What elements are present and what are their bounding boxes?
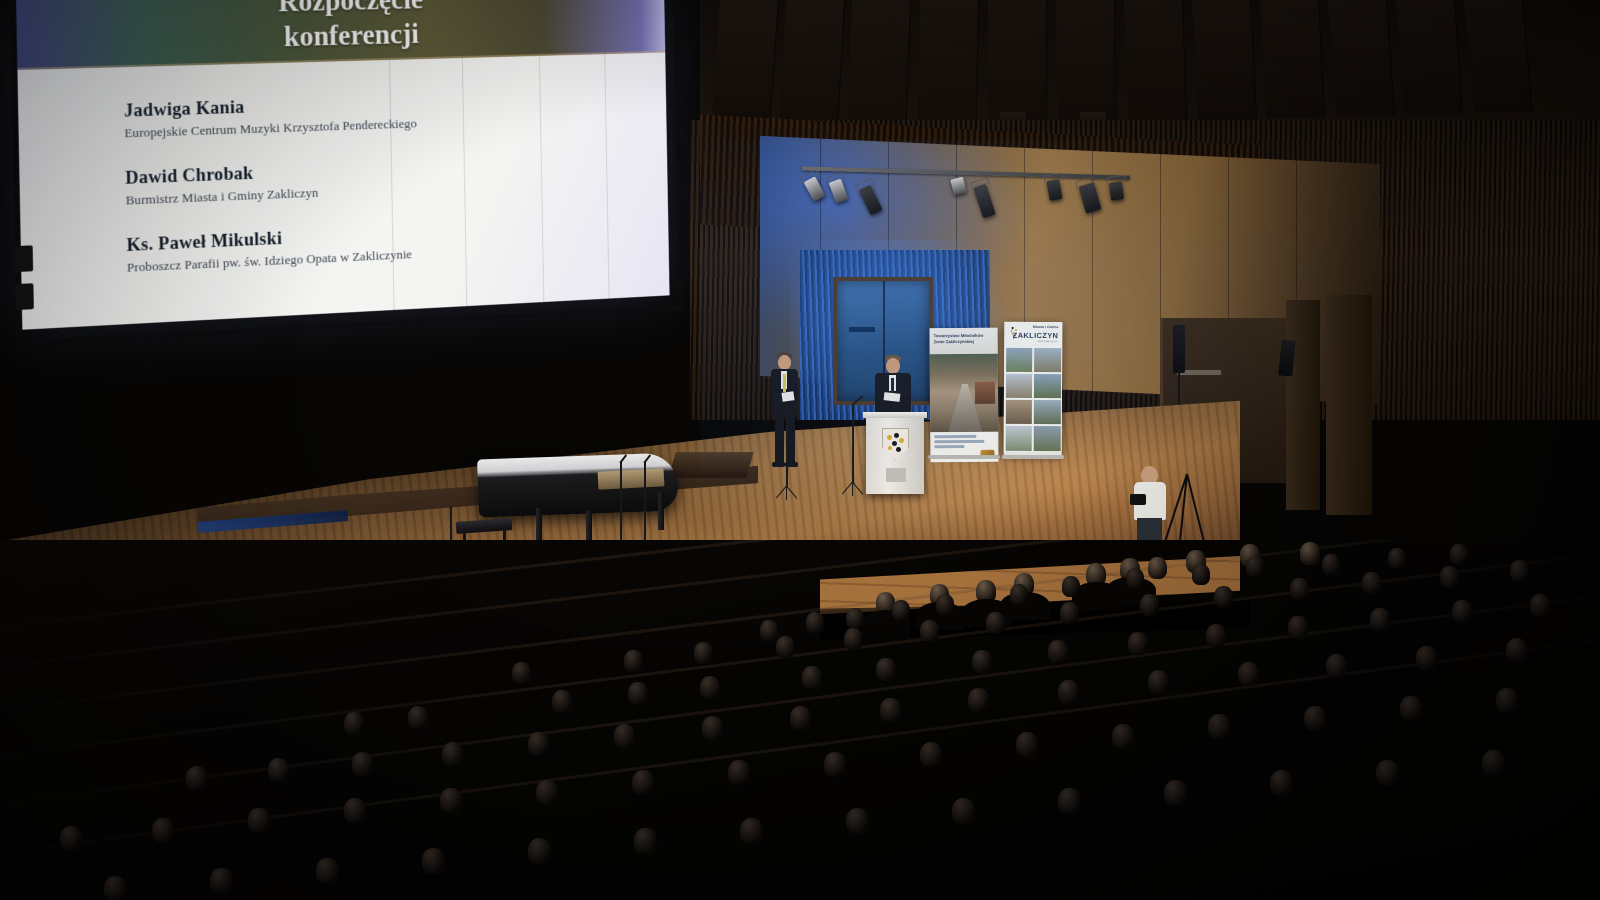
audience-head <box>1482 750 1505 776</box>
audience-head <box>1510 560 1529 582</box>
audience-head <box>920 742 942 767</box>
audience-head <box>1290 578 1309 600</box>
audience-head <box>1530 594 1550 617</box>
stage-riser-block <box>668 452 753 478</box>
spotlight-icon <box>1109 181 1124 201</box>
audience-head <box>624 650 643 672</box>
audience-head <box>1206 624 1226 647</box>
audience-head <box>728 760 750 785</box>
audience-head <box>1214 586 1233 608</box>
banner2-subtitle: Miasto i Gmina <box>1033 325 1059 329</box>
microphone-stand <box>768 404 812 500</box>
audience-head <box>104 876 127 900</box>
audience-head <box>1058 788 1081 814</box>
audience-head <box>1238 662 1259 686</box>
audience-head <box>952 798 975 824</box>
audience-head <box>528 838 551 864</box>
audience-head <box>1326 654 1347 678</box>
audience-head <box>1270 770 1293 796</box>
audience-head <box>528 732 549 756</box>
audience-seating <box>0 540 1600 900</box>
audience-head <box>512 662 531 684</box>
audience-head <box>316 858 339 884</box>
audience-head <box>1288 616 1308 639</box>
audience-head <box>920 620 939 642</box>
audience-head <box>968 688 989 712</box>
coat-of-arms-icon <box>882 428 909 460</box>
screen-bracket <box>16 283 34 310</box>
audience-head <box>614 724 635 748</box>
audience-head <box>702 716 723 740</box>
audience-head <box>936 594 954 615</box>
banner2-photo-grid <box>1004 346 1063 452</box>
audience-head <box>790 706 811 730</box>
audience-head <box>186 766 207 790</box>
audience-head <box>1362 572 1381 594</box>
audience-head <box>1370 608 1390 631</box>
audience-head <box>1452 600 1472 623</box>
wall-pillar <box>1326 295 1372 515</box>
banner-base <box>1002 455 1064 459</box>
audience-head <box>876 658 896 681</box>
screen-frame <box>10 0 684 346</box>
audience-head <box>628 682 648 705</box>
audience-head <box>846 608 864 629</box>
audience-head <box>1148 670 1169 694</box>
audience-head <box>1140 594 1159 616</box>
audience-head <box>1246 556 1264 577</box>
auditorium-scene: Towarzystwo Miłośników Ziemi Zakliczyńsk… <box>0 0 1600 900</box>
audience-head <box>1300 542 1320 565</box>
banner1-title-line2: Ziemi Zakliczyńskiej <box>934 339 995 345</box>
door-sign <box>849 327 875 332</box>
audience-head <box>1126 568 1144 589</box>
audience-head <box>846 808 869 834</box>
audience-head <box>1060 602 1079 624</box>
audience-head <box>1192 564 1210 585</box>
audience-head <box>1496 688 1518 713</box>
audience-head <box>880 698 901 722</box>
audience-head <box>536 780 558 805</box>
roll-up-banner-towarzystwo: Towarzystwo Miłośników Ziemi Zakliczyńsk… <box>930 328 999 456</box>
audience-head <box>1062 576 1080 597</box>
audience-head <box>700 676 720 699</box>
audience-head <box>442 742 463 766</box>
audience-head <box>60 826 82 851</box>
banner2-title: ZAKLICZYN <box>1013 331 1059 340</box>
audience-head <box>694 642 713 664</box>
camera-icon <box>1130 494 1146 505</box>
audience-head <box>268 758 289 782</box>
audience-head <box>552 690 572 713</box>
audience-head <box>1376 760 1399 786</box>
audience-head <box>1450 544 1468 565</box>
audience-head <box>210 868 233 894</box>
audience-head <box>1058 680 1079 704</box>
audience-head <box>1388 548 1406 569</box>
audience-head <box>1128 632 1148 655</box>
audience-head <box>152 818 174 843</box>
audience-head <box>776 636 795 658</box>
audience-head <box>1164 780 1187 806</box>
podium-plate <box>886 468 906 482</box>
audience-head <box>422 848 445 874</box>
microphone-stand <box>832 398 876 494</box>
pa-speaker <box>1173 325 1185 373</box>
roll-up-banner-zakliczyn: Miasto i Gmina ZAKLICZYN www.zakliczyn.p… <box>1004 322 1063 456</box>
audience-head <box>740 818 763 844</box>
projection-screen: Rozpoczęcie konferencji Jadwiga Kania Eu… <box>16 0 670 330</box>
audience-head <box>802 666 822 689</box>
audience-head <box>1010 584 1028 605</box>
audience-head <box>1322 554 1340 575</box>
audience-head <box>986 612 1005 634</box>
audience-head <box>972 650 992 673</box>
audience-head <box>760 620 778 641</box>
audience-head <box>634 828 657 854</box>
audience-head <box>1506 638 1527 662</box>
audience-head <box>844 628 863 650</box>
audience-head <box>344 798 366 823</box>
audience-head <box>1148 557 1167 579</box>
audience-head <box>632 770 654 795</box>
audience-head <box>1440 566 1459 588</box>
audience-head <box>892 600 910 621</box>
audience-head <box>1304 706 1326 731</box>
audience-head <box>1208 714 1230 739</box>
audience-head <box>352 752 373 776</box>
banner1-photo <box>930 354 999 432</box>
banner-base <box>928 455 1000 459</box>
audience-head <box>806 612 824 633</box>
audience-head <box>248 808 270 833</box>
screen-bracket <box>15 245 33 272</box>
audience-head <box>824 752 846 777</box>
audience-head <box>408 706 428 729</box>
audience-head <box>440 788 462 813</box>
audience-head <box>1112 724 1134 749</box>
audience-head <box>1416 646 1437 670</box>
audience-head <box>1400 696 1422 721</box>
audience-head <box>1048 640 1068 663</box>
wall-pillar <box>1286 300 1320 510</box>
audience-head <box>344 712 364 735</box>
audience-head <box>1016 732 1038 757</box>
banner2-url: www.zakliczyn.pl <box>1038 340 1057 343</box>
